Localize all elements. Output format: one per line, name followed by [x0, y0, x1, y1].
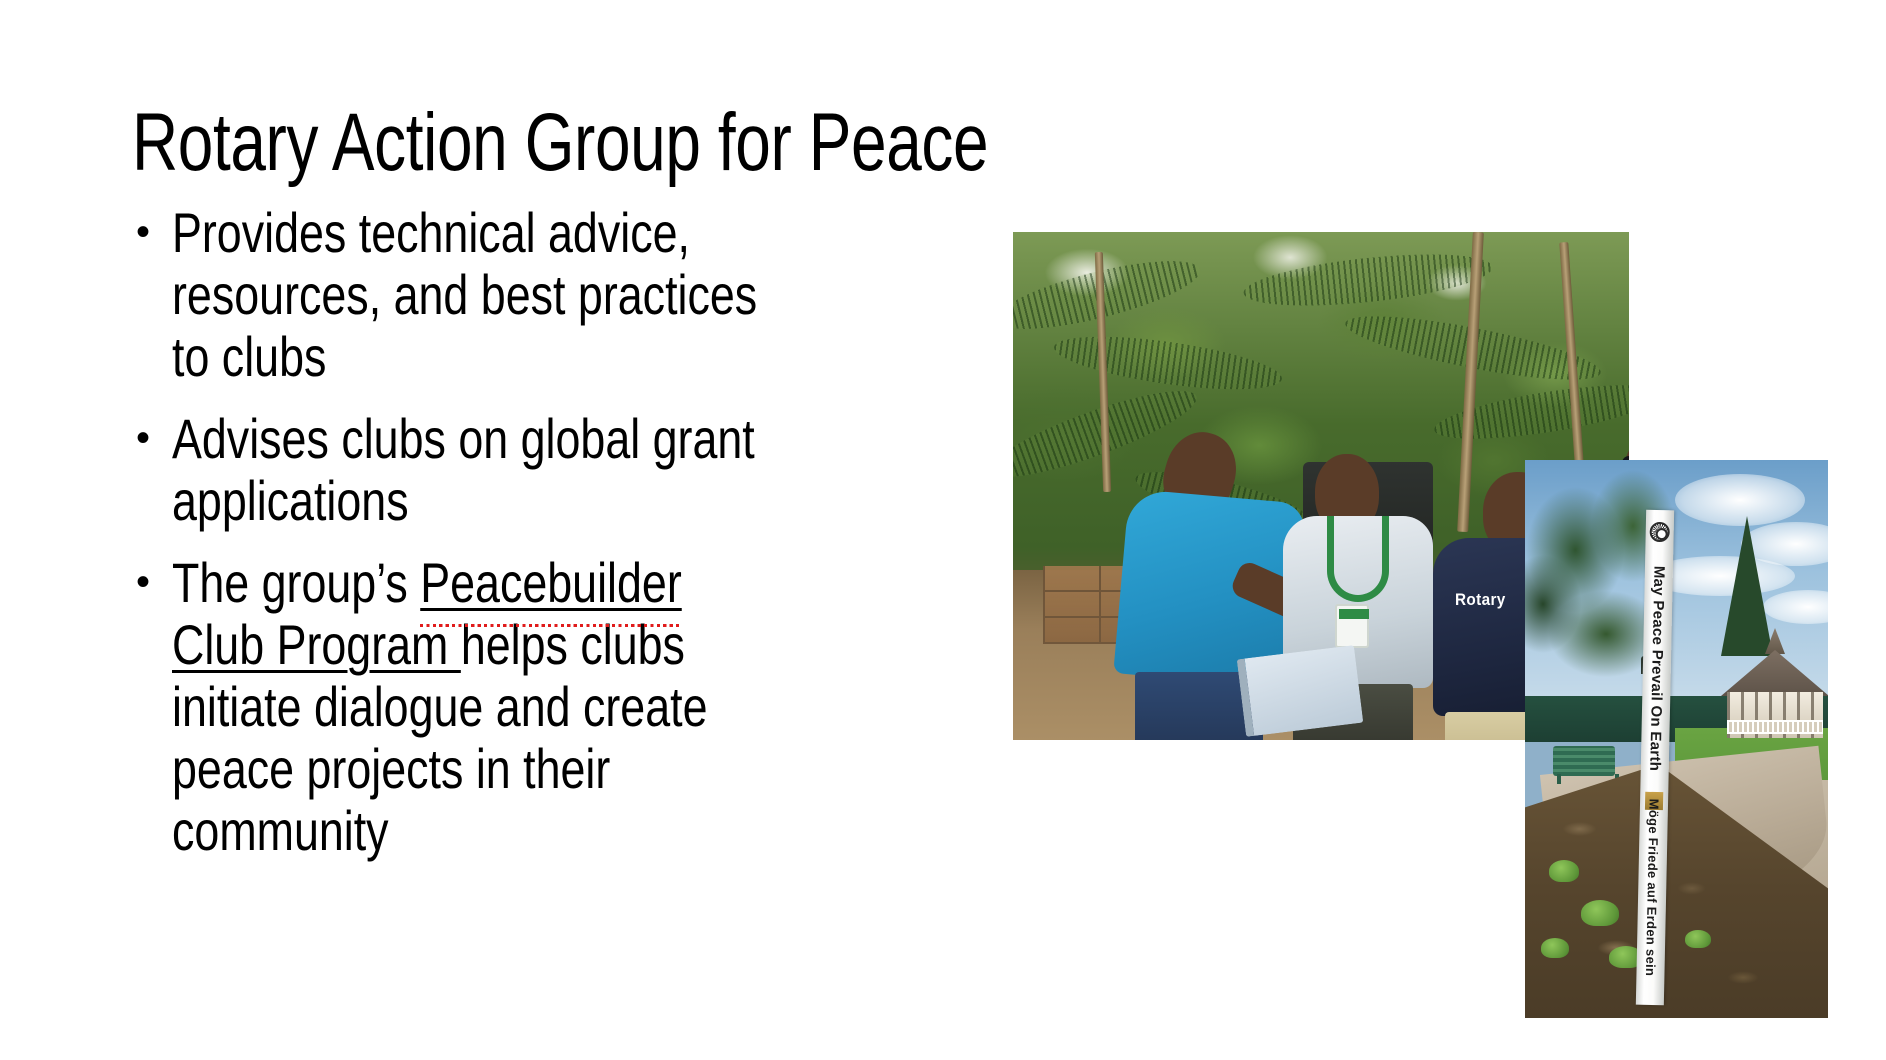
text-line: community	[172, 803, 1030, 865]
id-badge	[1335, 604, 1369, 648]
bullet-marker: •	[136, 205, 150, 260]
peace-pole-photo: May Peace Prevail On Earth Möge Friede a…	[1525, 460, 1828, 1018]
text-line: resources, and best practices	[172, 267, 1030, 329]
lanyard	[1327, 516, 1389, 602]
ground-plant	[1581, 900, 1619, 926]
link-text[interactable]: Club Program	[172, 613, 461, 676]
misspelled-link-text[interactable]: Peacebuilder	[420, 551, 682, 614]
slide-canvas: Rotary Action Group for Peace • Provides…	[0, 0, 1886, 1060]
text-run: helps clubs	[461, 613, 685, 676]
gazebo-roof	[1721, 650, 1828, 696]
spiral-notebook	[1237, 645, 1364, 737]
bullet-marker: •	[136, 555, 150, 610]
rotary-wheel-icon	[1650, 522, 1670, 542]
text-line: initiate dialogue and create	[172, 679, 1030, 741]
text-line: Advises clubs on global grant	[172, 411, 1030, 473]
text-line: Provides technical advice,	[172, 205, 1030, 267]
peace-pole-text-german: Möge Friede auf Erden sein	[1643, 799, 1662, 977]
ground-plant	[1685, 930, 1711, 948]
text-run: The group’s	[172, 551, 420, 614]
list-item-text: Advises clubs on global grant applicatio…	[172, 411, 1030, 535]
list-item: • The group’s Peacebuilder Club Program …	[130, 555, 1030, 865]
text-line: peace projects in their	[172, 741, 1030, 803]
text-line: The group’s Peacebuilder	[172, 555, 1030, 617]
list-item-text: Provides technical advice, resources, an…	[172, 205, 1030, 391]
bullet-list: • Provides technical advice, resources, …	[130, 205, 1030, 885]
text-line: applications	[172, 473, 1030, 535]
park-bench	[1553, 746, 1615, 776]
text-line: to clubs	[172, 329, 1030, 391]
rotary-wordmark: Rotary	[1455, 590, 1506, 610]
ground-plant	[1541, 938, 1569, 958]
ground-plant	[1549, 860, 1579, 882]
list-item: • Provides technical advice, resources, …	[130, 205, 1030, 391]
page-title: Rotary Action Group for Peace	[132, 102, 1068, 184]
list-item: • Advises clubs on global grant applicat…	[130, 411, 1030, 535]
gazebo	[1721, 628, 1828, 748]
list-item-text: The group’s Peacebuilder Club Program he…	[172, 555, 1030, 865]
bullet-marker: •	[136, 411, 150, 466]
peace-pole-text-english: May Peace Prevail On Earth	[1646, 566, 1667, 772]
gazebo-railing	[1727, 720, 1823, 734]
